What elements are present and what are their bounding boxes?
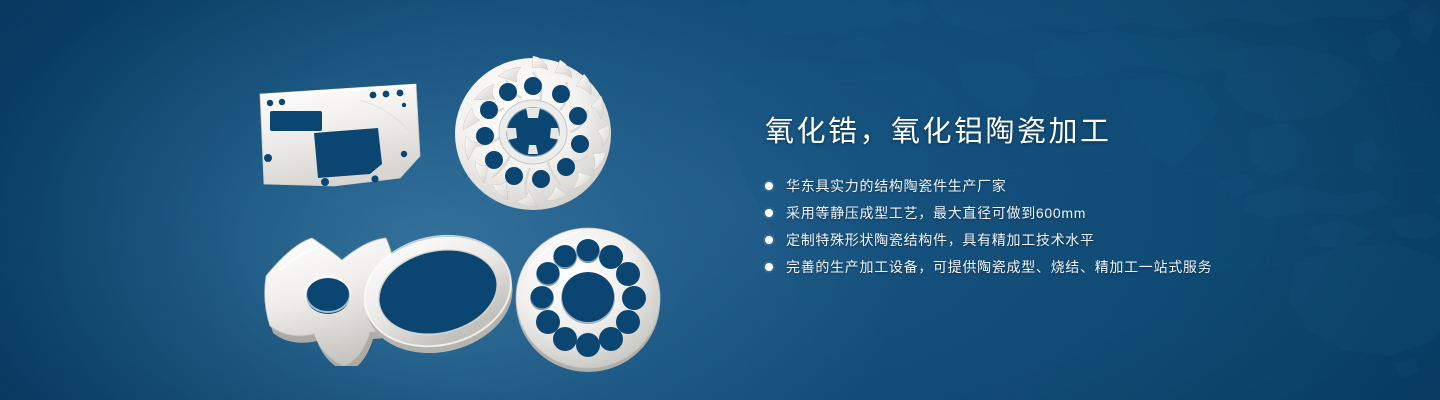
list-item: 完善的生产加工设备，可提供陶瓷成型、烧结、精加工一站式服务 [765,256,1385,278]
list-item: 华东具实力的结构陶瓷件生产厂家 [765,175,1385,197]
list-item-label: 定制特殊形状陶瓷结构件，具有精加工技术水平 [786,229,1095,251]
list-item-label: 华东具实力的结构陶瓷件生产厂家 [786,175,1007,197]
bullet-dot-icon [765,182,773,190]
page-title: 氧化锆，氧化铝陶瓷加工 [765,112,1385,152]
ceramic-perforated-disc-photo [508,218,668,378]
hero-banner: 氧化锆，氧化铝陶瓷加工 华东具实力的结构陶瓷件生产厂家 采用等静压成型工艺，最大… [0,0,1440,400]
ceramic-ring-photo [348,222,528,362]
list-item: 定制特殊形状陶瓷结构件，具有精加工技术水平 [765,229,1385,251]
ceramic-plate-photo [248,78,438,198]
feature-list: 华东具实力的结构陶瓷件生产厂家 采用等静压成型工艺，最大直径可做到600mm 定… [765,175,1385,278]
bullet-dot-icon [765,209,773,217]
list-item-label: 采用等静压成型工艺，最大直径可做到600mm [786,202,1086,224]
bullet-dot-icon [765,263,773,271]
bullet-dot-icon [765,236,773,244]
list-item-label: 完善的生产加工设备，可提供陶瓷成型、烧结、精加工一站式服务 [786,256,1212,278]
banner-text-block: 氧化锆，氧化铝陶瓷加工 华东具实力的结构陶瓷件生产厂家 采用等静压成型工艺，最大… [765,112,1385,283]
product-photo-group [0,0,740,400]
list-item: 采用等静压成型工艺，最大直径可做到600mm [765,202,1385,224]
ceramic-impeller-photo [448,48,618,218]
